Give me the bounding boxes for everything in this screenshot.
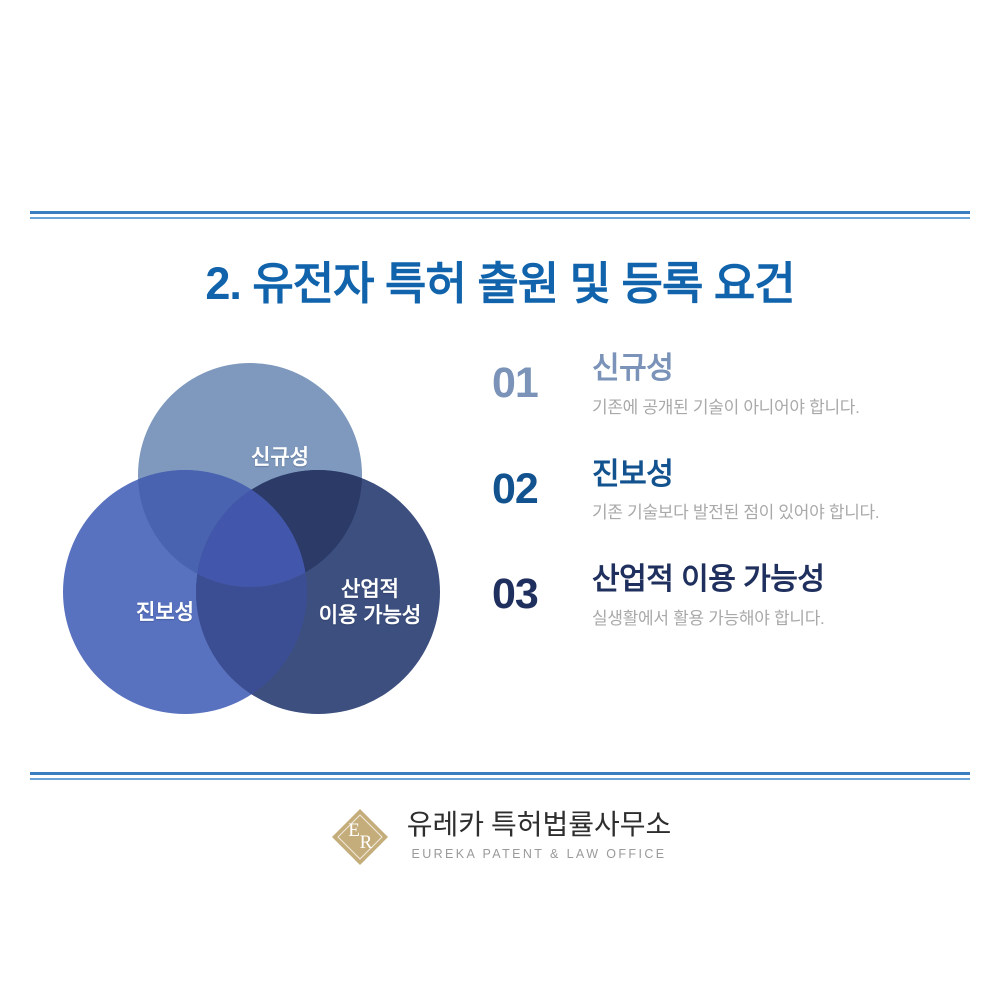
page-title: 2. 유전자 특허 출원 및 등록 요건: [0, 247, 1000, 312]
requirement-title-01: 신규성: [592, 352, 962, 387]
logo-diamond-svg: E R: [329, 806, 391, 868]
logo-monogram-r: R: [359, 832, 372, 853]
requirement-description-03: 실생활에서 활용 가능해야 합니다.: [592, 604, 962, 629]
requirement-description-02: 기존 기술보다 발전된 점이 있어야 합니다.: [592, 498, 962, 523]
footer-logo: E R 유레카 특허법률사무소 EUREKA PATENT & LAW OFFI…: [0, 806, 1000, 868]
requirement-body-02: 진보성 기존 기술보다 발전된 점이 있어야 합니다.: [592, 458, 962, 524]
venn-diagram-svg: [60, 355, 440, 735]
logo-name-korean: 유레카 특허법률사무소: [407, 811, 672, 842]
requirement-item-novelty: 01 신규성 기존에 공개된 기술이 아니어야 합니다.: [492, 352, 962, 418]
requirement-number-02: 02: [492, 458, 592, 511]
bottom-divider-thin-rule: [30, 778, 970, 780]
logo-name-english: EUREKA PATENT & LAW OFFICE: [407, 847, 672, 861]
requirement-number-01: 01: [492, 352, 592, 405]
requirement-title-03: 산업적 이용 가능성: [592, 563, 962, 598]
requirement-title-02: 진보성: [592, 458, 962, 493]
bottom-divider: [30, 772, 970, 780]
requirement-item-inventive-step: 02 진보성 기존 기술보다 발전된 점이 있어야 합니다.: [492, 458, 962, 524]
requirement-body-01: 신규성 기존에 공개된 기술이 아니어야 합니다.: [592, 352, 962, 418]
logo-monogram-e: E: [348, 820, 360, 841]
requirement-item-industrial-applicability: 03 산업적 이용 가능성 실생활에서 활용 가능해야 합니다.: [492, 563, 962, 629]
top-divider-thin-rule: [30, 217, 970, 219]
logo-text-block: 유레카 특허법률사무소 EUREKA PATENT & LAW OFFICE: [407, 811, 672, 864]
top-divider: [30, 211, 970, 219]
requirements-list: 01 신규성 기존에 공개된 기술이 아니어야 합니다. 02 진보성 기존 기…: [492, 352, 962, 629]
logo-diamond-icon: E R: [329, 806, 391, 868]
requirement-body-03: 산업적 이용 가능성 실생활에서 활용 가능해야 합니다.: [592, 563, 962, 629]
requirement-description-01: 기존에 공개된 기술이 아니어야 합니다.: [592, 393, 962, 418]
venn-diagram: 신규성 진보성 산업적 이용 가능성: [60, 355, 440, 735]
requirement-number-03: 03: [492, 563, 592, 616]
